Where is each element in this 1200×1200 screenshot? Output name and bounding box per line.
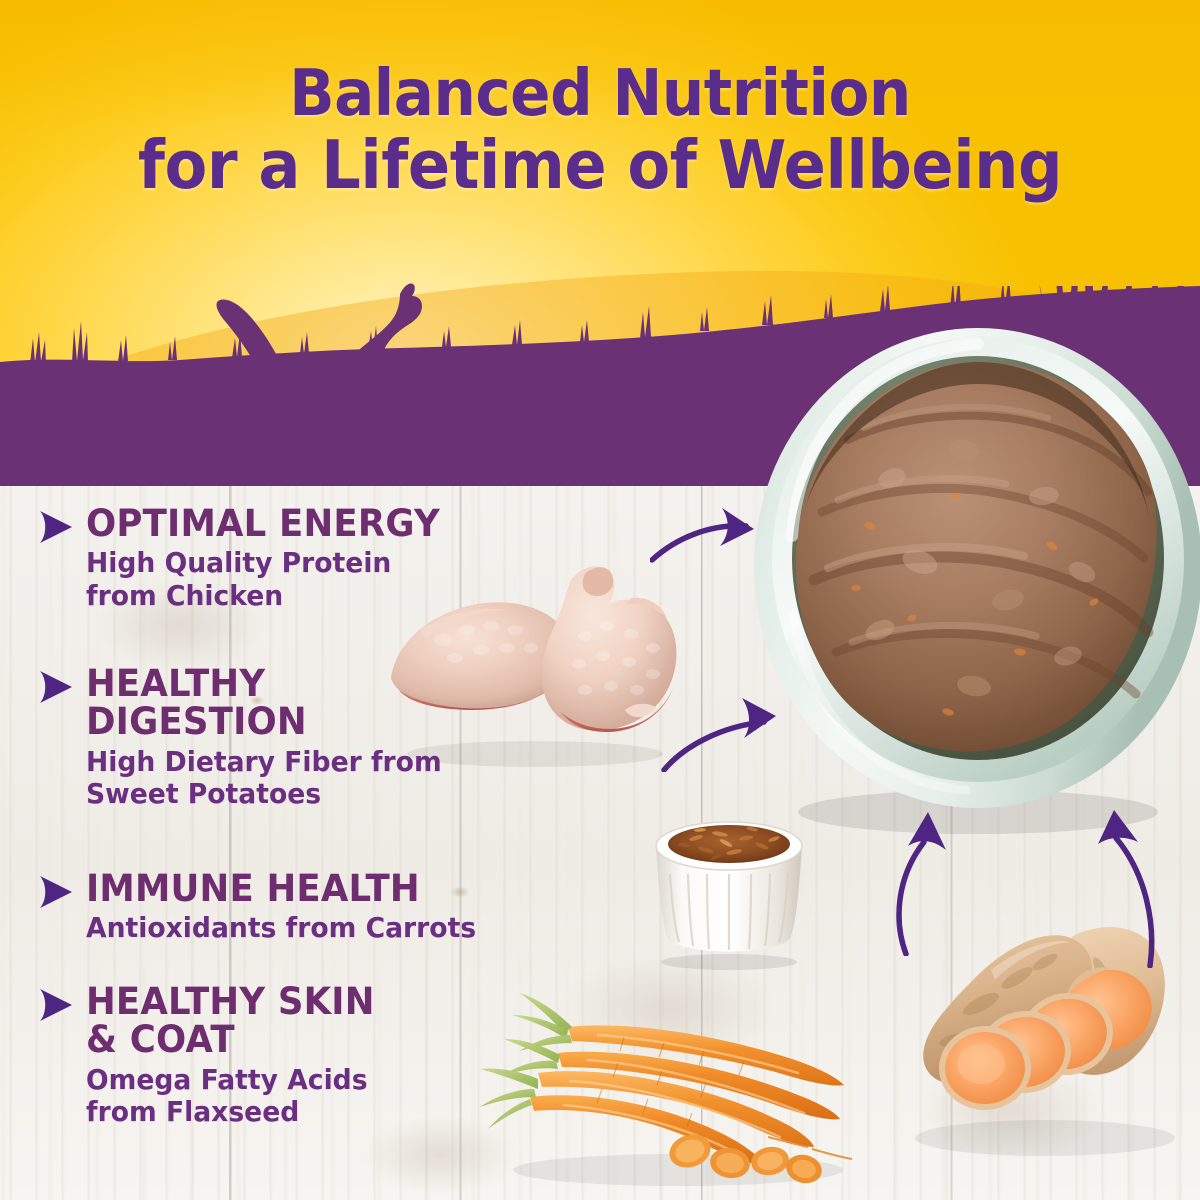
benefit-heading: IMMUNE HEALTH [86, 870, 553, 908]
arrow-carrots-to-bowl-icon [888, 806, 958, 956]
benefit-item-optimal-energy: OPTIMAL ENERGY High Quality Protein from… [32, 505, 572, 612]
arrow-flaxseed-to-bowl-icon [660, 690, 800, 772]
arrow-chicken-to-bowl-icon [650, 498, 780, 570]
benefit-item-healthy-skin-coat: HEALTHY SKIN & COAT Omega Fatty Acids fr… [32, 983, 572, 1129]
title-line-2: for a Lifetime of Wellbeing [42, 131, 1158, 199]
triangle-arrow-bullet-icon [38, 510, 74, 544]
nutrition-infographic-poster: Balanced Nutrition for a Lifetime of Wel… [0, 0, 1200, 1200]
benefit-item-immune-health: IMMUNE HEALTH Antioxidants from Carrots [32, 870, 572, 945]
dog-food-bowl-image [752, 300, 1200, 840]
benefit-heading: OPTIMAL ENERGY [86, 505, 553, 543]
benefit-subtext: Antioxidants from Carrots [86, 912, 548, 944]
benefit-subtext: High Quality Protein from Chicken [86, 547, 548, 612]
page-title: Balanced Nutrition for a Lifetime of Wel… [42, 62, 1158, 200]
benefit-subtext: High Dietary Fiber from Sweet Potatoes [86, 746, 548, 811]
arrow-sweet-potato-to-bowl-icon [1088, 808, 1164, 968]
benefit-subtext: Omega Fatty Acids from Flaxseed [86, 1064, 548, 1129]
benefit-heading: HEALTHY SKIN & COAT [86, 983, 553, 1060]
triangle-arrow-bullet-icon [38, 988, 74, 1022]
triangle-arrow-bullet-icon [38, 670, 74, 704]
benefit-heading: HEALTHY DIGESTION [86, 665, 553, 742]
dog-silhouette-icon [150, 278, 480, 458]
title-line-1: Balanced Nutrition [289, 57, 911, 131]
benefit-item-healthy-digestion: HEALTHY DIGESTION High Dietary Fiber fro… [32, 665, 572, 811]
triangle-arrow-bullet-icon [38, 875, 74, 909]
